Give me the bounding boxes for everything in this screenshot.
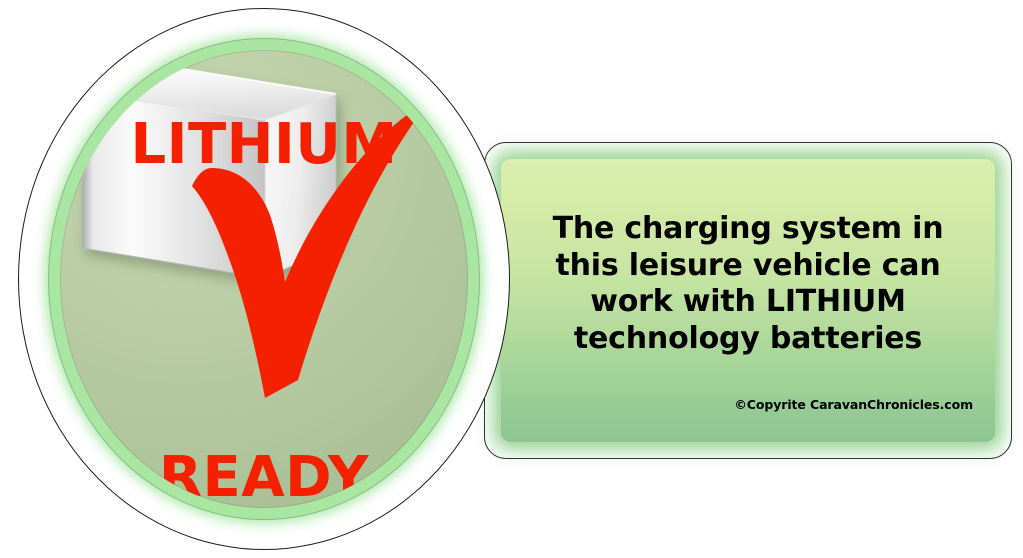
info-panel-message: The charging system in this leisure vehi…	[501, 211, 995, 357]
info-panel: The charging system in this leisure vehi…	[484, 142, 1012, 459]
info-panel-face: The charging system in this leisure vehi…	[501, 159, 995, 442]
message-line-3: work with LITHIUM	[515, 284, 981, 321]
badge-face: LITHIUM READY	[60, 50, 468, 508]
message-line-1: The charging system in	[515, 211, 981, 248]
badge-graphic-canvas: The charging system in this leisure vehi…	[0, 0, 1023, 558]
copyright-notice: ©Copyrite CaravanChronicles.com	[734, 397, 973, 412]
lithium-ready-badge: LITHIUM READY	[18, 8, 510, 550]
badge-word-lithium: LITHIUM	[60, 112, 468, 177]
message-line-2: this leisure vehicle can	[515, 248, 981, 285]
message-line-4: technology batteries	[515, 321, 981, 358]
badge-word-ready: READY	[60, 445, 468, 508]
